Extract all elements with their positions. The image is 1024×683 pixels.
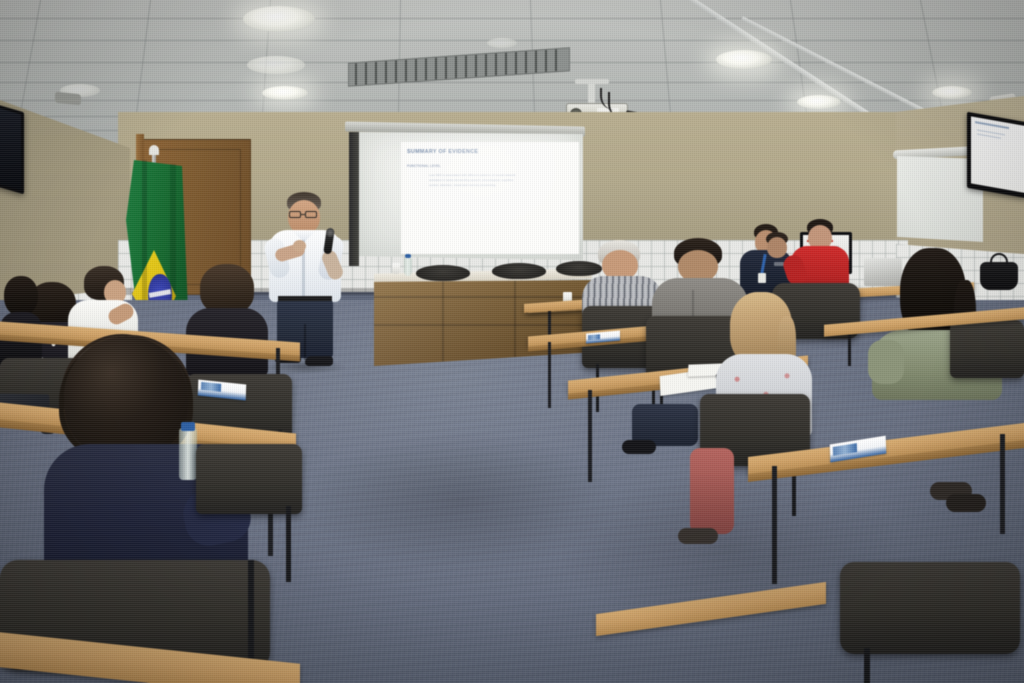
wall-tv-left[interactable] xyxy=(0,104,24,195)
conference-room-photo: ORDEM E PROGRESSO SUMMARY OF EVIDENCE FU… xyxy=(0,0,1024,683)
shoe xyxy=(946,494,986,512)
hair xyxy=(4,276,38,316)
tv-left-screen xyxy=(0,108,21,191)
head xyxy=(767,237,787,258)
projection-screen-side-bar xyxy=(349,132,359,266)
wall-tv-right[interactable] xyxy=(967,112,1024,199)
attendee-back-seated xyxy=(758,232,800,288)
trouser-split xyxy=(304,324,306,360)
bottle-cap xyxy=(181,422,195,431)
tv-right-screen xyxy=(971,116,1024,192)
flag-pole-finial xyxy=(149,145,159,155)
water-bottle[interactable] xyxy=(179,428,197,480)
presenter-shadow xyxy=(262,360,348,374)
ceiling-light xyxy=(243,6,315,32)
chair-leg xyxy=(864,648,870,683)
hair xyxy=(64,336,188,458)
screen-glare xyxy=(359,132,583,260)
floor-shadow xyxy=(560,470,900,630)
tv-right-slide-title xyxy=(975,121,1009,129)
head-table-chair[interactable] xyxy=(416,265,470,281)
desk-leg xyxy=(1000,434,1005,534)
ceiling-light xyxy=(716,50,772,69)
head-table xyxy=(374,280,592,366)
projector-mount xyxy=(588,82,595,104)
eyeglasses-icon xyxy=(289,211,318,218)
bottle-cap xyxy=(405,254,411,258)
head-table-chair[interactable] xyxy=(492,263,546,279)
hair xyxy=(200,264,254,314)
projector-mount-plate xyxy=(575,79,609,84)
presenter-hand-left xyxy=(293,240,306,252)
mic-grille xyxy=(326,228,335,238)
belt xyxy=(278,296,332,301)
chair[interactable] xyxy=(196,444,302,514)
arm xyxy=(868,340,904,384)
water-bottle[interactable] xyxy=(404,257,412,276)
projection-screen: SUMMARY OF EVIDENCE FUNCTIONAL LEVEL Low… xyxy=(359,132,583,260)
desk-leg xyxy=(548,342,551,408)
tv-right-slide-line xyxy=(977,133,1001,138)
ceiling-light xyxy=(247,56,305,74)
ceiling-light xyxy=(262,86,308,100)
chair-leg xyxy=(848,334,851,366)
chair-leg xyxy=(248,560,254,670)
paper-cup[interactable] xyxy=(392,263,400,274)
ceiling-light xyxy=(487,38,517,48)
chair[interactable] xyxy=(950,320,1024,378)
chair-leg xyxy=(286,506,291,582)
shoe xyxy=(622,440,656,454)
ceiling-light xyxy=(932,86,972,99)
ceiling-light xyxy=(797,95,841,109)
